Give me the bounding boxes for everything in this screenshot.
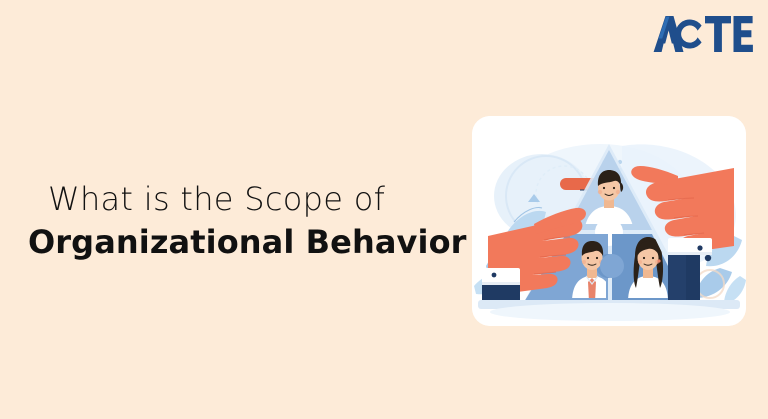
teamwork-pyramid-illustration (472, 116, 746, 326)
illustration-card (472, 116, 746, 326)
page-title-line-1: What is the Scope of (28, 178, 458, 220)
cuff-left (482, 268, 520, 284)
banner-root: What is the Scope of Organizational Beha… (0, 0, 768, 419)
logo-letter-t-icon (705, 16, 731, 52)
logo-letter-e-icon (734, 16, 753, 52)
acte-logo[interactable] (653, 14, 753, 54)
page-title: What is the Scope of Organizational Beha… (28, 178, 458, 264)
page-title-line-2: Organizational Behavior (28, 220, 458, 264)
cuff-right (668, 238, 712, 254)
navy-dot-marker (705, 255, 711, 261)
sleeve-left (482, 284, 520, 300)
